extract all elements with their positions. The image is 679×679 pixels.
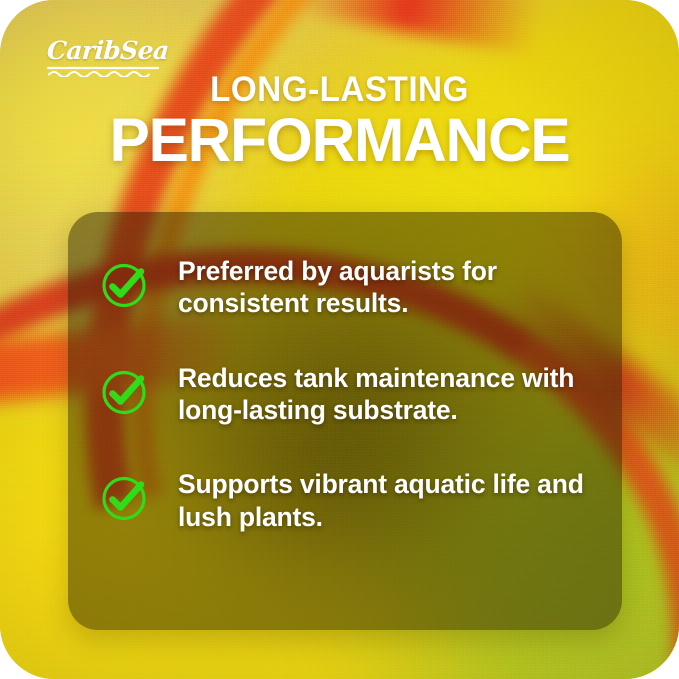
list-item: Preferred by aquarists for consistent re… — [100, 255, 590, 320]
list-item-label: Supports vibrant aquatic life and lush p… — [178, 468, 588, 533]
check-circle-icon — [100, 261, 148, 309]
headline-line-1: LONG-LASTING — [17, 72, 662, 107]
logo-wordmark: CaribSea — [46, 38, 160, 63]
check-circle-icon — [100, 368, 148, 416]
list-item: Reduces tank maintenance with long-lasti… — [100, 362, 590, 427]
list-item-label: Reduces tank maintenance with long-lasti… — [178, 362, 588, 427]
promo-card: CaribSea LONG-LASTING PERFORMANCE Prefer… — [0, 0, 679, 679]
list-item: Supports vibrant aquatic life and lush p… — [100, 468, 590, 533]
headline-line-2: PERFORMANCE — [3, 109, 675, 171]
headline: LONG-LASTING PERFORMANCE — [0, 72, 679, 171]
benefits-list: Preferred by aquarists for consistent re… — [100, 255, 590, 533]
check-circle-icon — [100, 474, 148, 522]
list-item-label: Preferred by aquarists for consistent re… — [178, 255, 588, 320]
